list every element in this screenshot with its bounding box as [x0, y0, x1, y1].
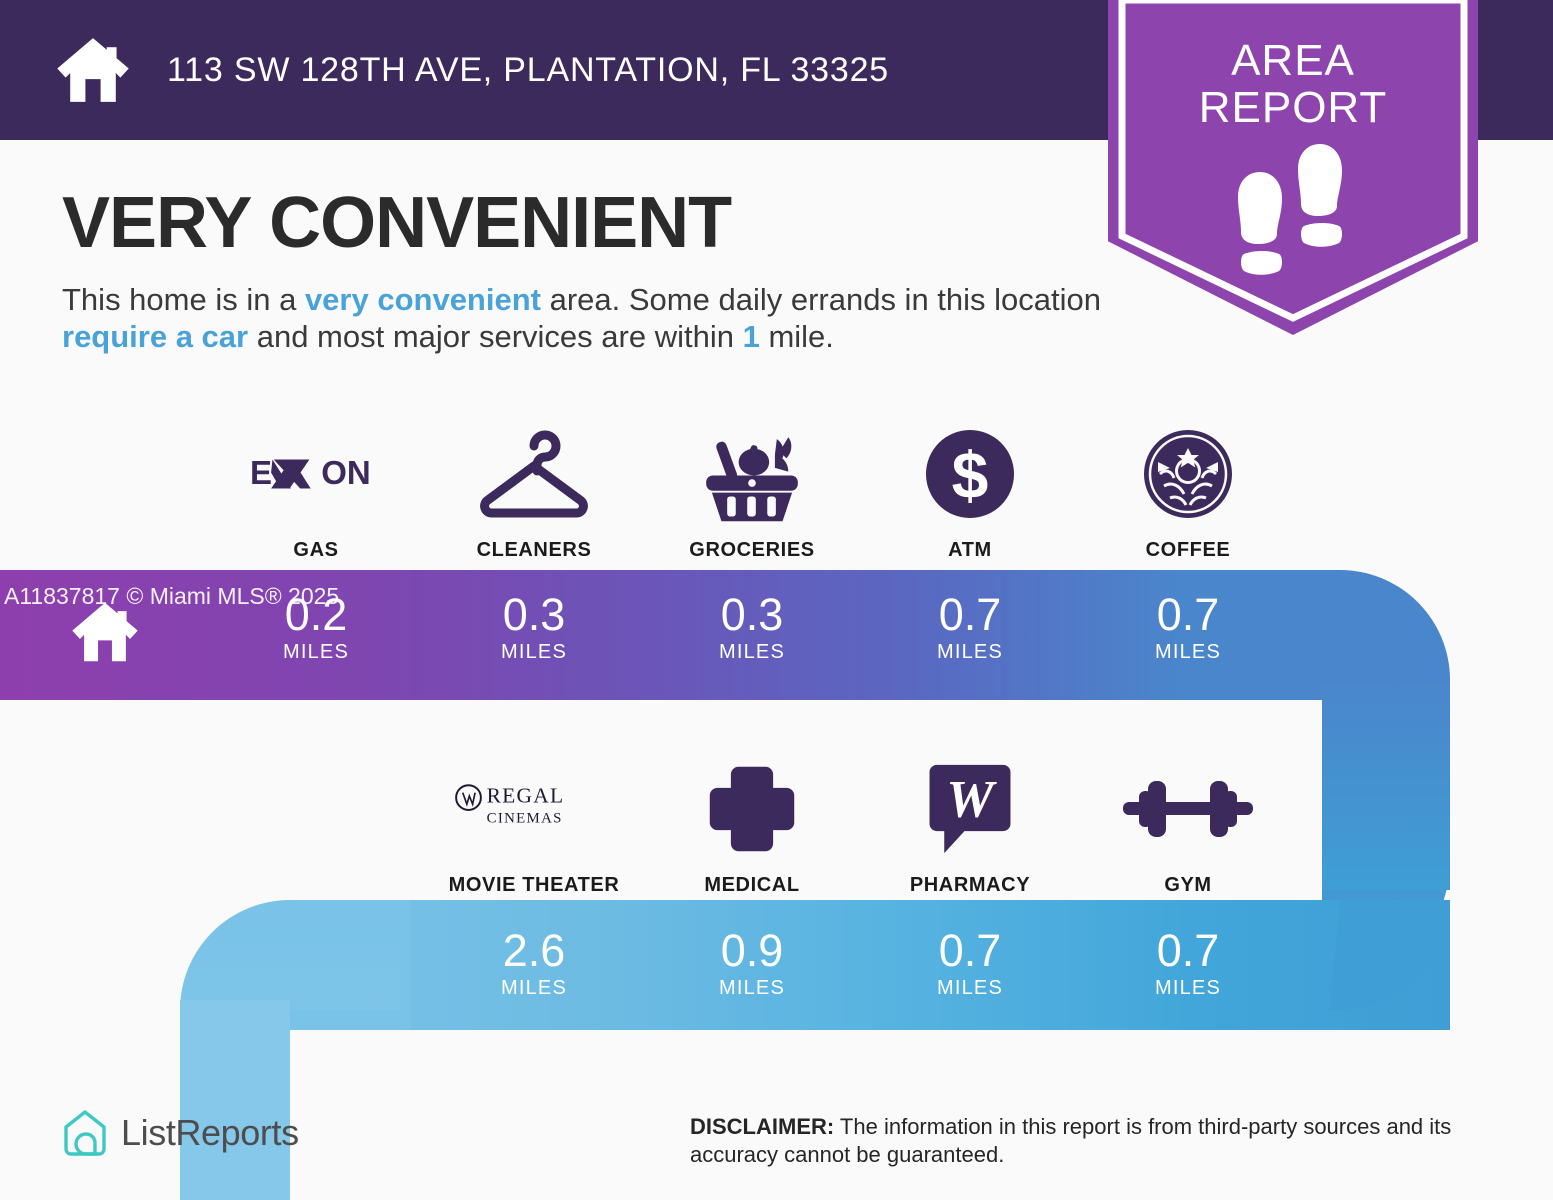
distance-value: 0.7 [1079, 928, 1297, 973]
distance-unit: MILES [643, 977, 861, 1000]
clothes-hanger-icon [425, 415, 643, 533]
summary-part-1: This home is in a [62, 282, 305, 317]
property-address: 113 SW 128TH AVE, PLANTATION, FL 33325 [167, 51, 889, 90]
distance-cell: 0.3 MILES [425, 592, 643, 664]
svg-text:W: W [946, 768, 997, 828]
dollar-circle-icon: $ [861, 415, 1079, 533]
amenity-label: GYM [1079, 874, 1297, 897]
distance-cell: 0.9 MILES [643, 928, 861, 1000]
summary-part-2: area. Some daily errands in this locatio… [541, 282, 1101, 317]
amenity-atm: $ ATM [861, 415, 1079, 562]
distance-cell: 0.7 MILES [861, 928, 1079, 1000]
distance-value: 2.6 [425, 928, 643, 973]
amenity-coffee: COFFEE [1079, 415, 1297, 562]
distance-cell: 0.7 MILES [861, 592, 1079, 664]
home-icon [55, 35, 131, 105]
distance-unit: MILES [861, 977, 1079, 1000]
amenity-icon-row-1: E ON GAS CLEANERS [207, 415, 1297, 562]
distance-row-2: 2.6 MILES 0.9 MILES 0.7 MILES 0.7 MILES [425, 928, 1297, 1000]
walgreens-logo-icon: W [861, 750, 1079, 868]
amenity-icon-row-2: REGAL CINEMAS MOVIE THEATER MEDICAL W PH… [425, 750, 1297, 897]
distance-value: 0.7 [861, 592, 1079, 637]
grocery-basket-icon [643, 415, 861, 533]
amenity-cleaners: CLEANERS [425, 415, 643, 562]
summary-part-3: and most major services are within [248, 319, 742, 354]
dumbbell-icon [1079, 750, 1297, 868]
page-title: VERY CONVENIENT [62, 182, 731, 264]
distance-cell: 0.3 MILES [643, 592, 861, 664]
exxon-logo-icon: E ON [207, 415, 425, 533]
svg-text:E: E [250, 454, 272, 491]
listreports-house-icon [62, 1108, 108, 1158]
distance-value: 0.9 [643, 928, 861, 973]
amenity-label: ATM [861, 539, 1079, 562]
amenity-label: CLEANERS [425, 539, 643, 562]
footprints-icon [1108, 0, 1478, 335]
distance-unit: MILES [643, 641, 861, 664]
summary-part-4: mile. [760, 319, 834, 354]
summary-highlight-1: very convenient [305, 282, 541, 317]
amenity-label: MOVIE THEATER [425, 874, 643, 897]
amenity-label: GAS [207, 539, 425, 562]
distance-value: 0.7 [1079, 592, 1297, 637]
distance-unit: MILES [1079, 641, 1297, 664]
starbucks-logo-icon [1079, 415, 1297, 533]
disclaimer-label: DISCLAIMER: [690, 1114, 834, 1139]
listreports-logo: ListReports [62, 1108, 299, 1158]
listreports-wordmark: ListReports [121, 1112, 299, 1154]
summary-highlight-3: 1 [743, 319, 760, 354]
amenity-label: MEDICAL [643, 874, 861, 897]
distance-value: 0.3 [643, 592, 861, 637]
distance-unit: MILES [425, 977, 643, 1000]
distance-unit: MILES [1079, 977, 1297, 1000]
amenity-label: GROCERIES [643, 539, 861, 562]
distance-value: 0.7 [861, 928, 1079, 973]
svg-text:$: $ [952, 438, 989, 512]
distance-unit: MILES [861, 641, 1079, 664]
amenity-label: PHARMACY [861, 874, 1079, 897]
amenity-pharmacy: W PHARMACY [861, 750, 1079, 897]
distance-cell: 0.7 MILES [1079, 928, 1297, 1000]
svg-text:ON: ON [321, 454, 371, 491]
regal-cinemas-logo-icon: REGAL CINEMAS [425, 750, 643, 868]
mls-watermark: A11837817 © Miami MLS® 2025 [4, 583, 339, 610]
svg-text:CINEMAS: CINEMAS [486, 810, 562, 826]
disclaimer: DISCLAIMER: The information in this repo… [690, 1113, 1500, 1169]
summary-text: This home is in a very convenient area. … [62, 282, 1102, 355]
amenity-gym: GYM [1079, 750, 1297, 897]
distance-cell: 2.6 MILES [425, 928, 643, 1000]
amenity-gas: E ON GAS [207, 415, 425, 562]
summary-highlight-2: require a car [62, 319, 248, 354]
distance-cell: 0.7 MILES [1079, 592, 1297, 664]
medical-cross-icon [643, 750, 861, 868]
amenity-label: COFFEE [1079, 539, 1297, 562]
distance-unit: MILES [207, 641, 425, 664]
amenity-groceries: GROCERIES [643, 415, 861, 562]
amenity-movie-theater: REGAL CINEMAS MOVIE THEATER [425, 750, 643, 897]
amenity-medical: MEDICAL [643, 750, 861, 897]
distance-value: 0.3 [425, 592, 643, 637]
svg-text:REGAL: REGAL [486, 783, 564, 807]
distance-row-1: 0.2 MILES 0.3 MILES 0.3 MILES 0.7 MILES … [207, 592, 1297, 664]
distance-unit: MILES [425, 641, 643, 664]
